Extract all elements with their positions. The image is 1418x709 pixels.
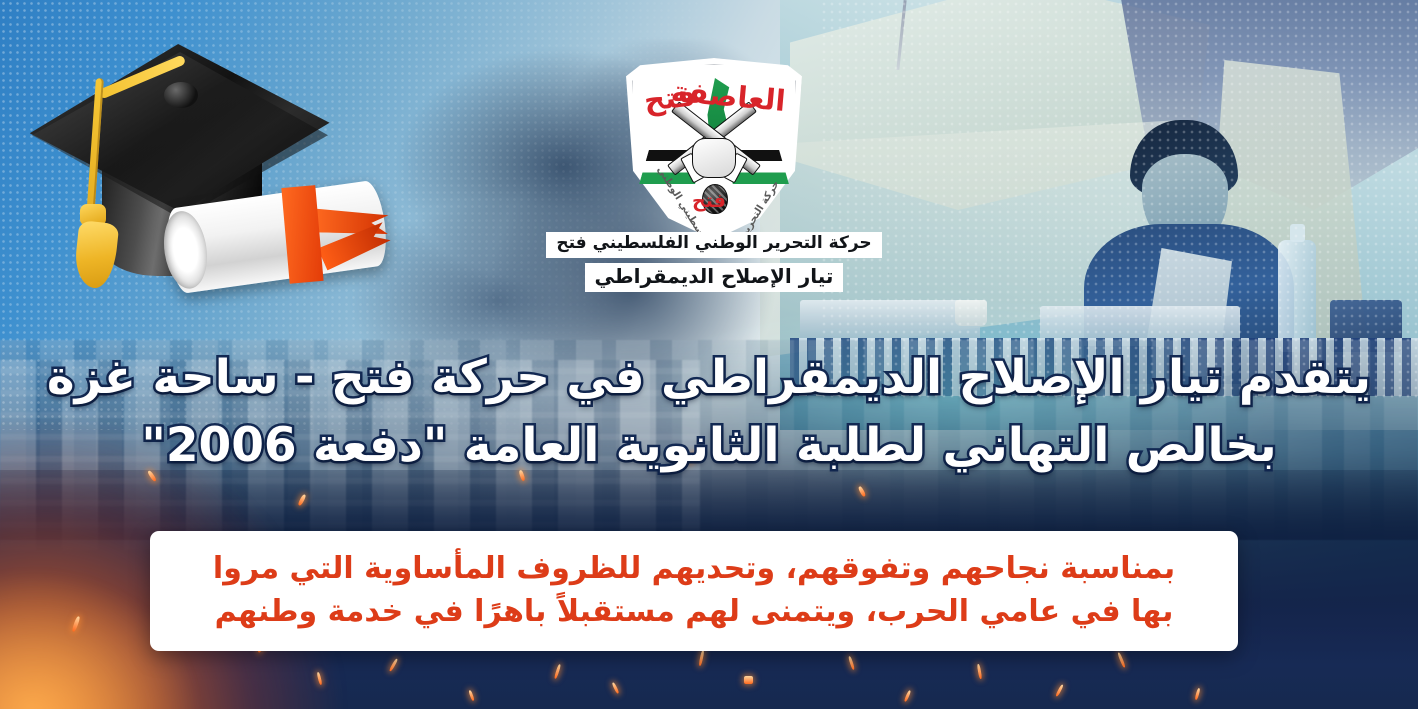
cap-button xyxy=(164,82,198,108)
headline-line1: يتقدم تيار الإصلاح الديمقراطي في حركة فت… xyxy=(0,352,1418,404)
message-box: بمناسبة نجاحهم وتفوقهم، وتحديهم للظروف ا… xyxy=(150,531,1238,651)
clasped-hand-icon xyxy=(692,138,736,178)
logo-caption-group: حركة التحرير الوطني الفلسطيني فتح تيار ا… xyxy=(540,232,888,292)
tassel-icon xyxy=(73,220,120,290)
fatah-emblem: فتح العاصفة فتح الفلسطيني الوطني حركة ال… xyxy=(626,58,802,240)
headline-group: يتقدم تيار الإصلاح الديمقراطي في حركة فت… xyxy=(0,352,1418,471)
headline-line2: بخالص التهاني لطلبة الثانوية العامة "دفع… xyxy=(0,420,1418,472)
graduation-cap-icon xyxy=(18,26,388,326)
spark xyxy=(744,676,753,684)
message-line1: بمناسبة نجاحهم وتفوقهم، وتحديهم للظروف ا… xyxy=(213,551,1175,588)
halftone-dot-pattern-right xyxy=(820,0,1418,400)
logo-caption-line1: حركة التحرير الوطني الفلسطيني فتح xyxy=(546,232,881,258)
congratulation-banner: فتح العاصفة فتح الفلسطيني الوطني حركة ال… xyxy=(0,0,1418,709)
message-line2: بها في عامي الحرب، ويتمنى لهم مستقبلاً ب… xyxy=(215,594,1174,631)
emblem-calligraphy-center: فتح xyxy=(692,192,726,211)
logo-caption-line2: تيار الإصلاح الديمقراطي xyxy=(585,263,844,292)
